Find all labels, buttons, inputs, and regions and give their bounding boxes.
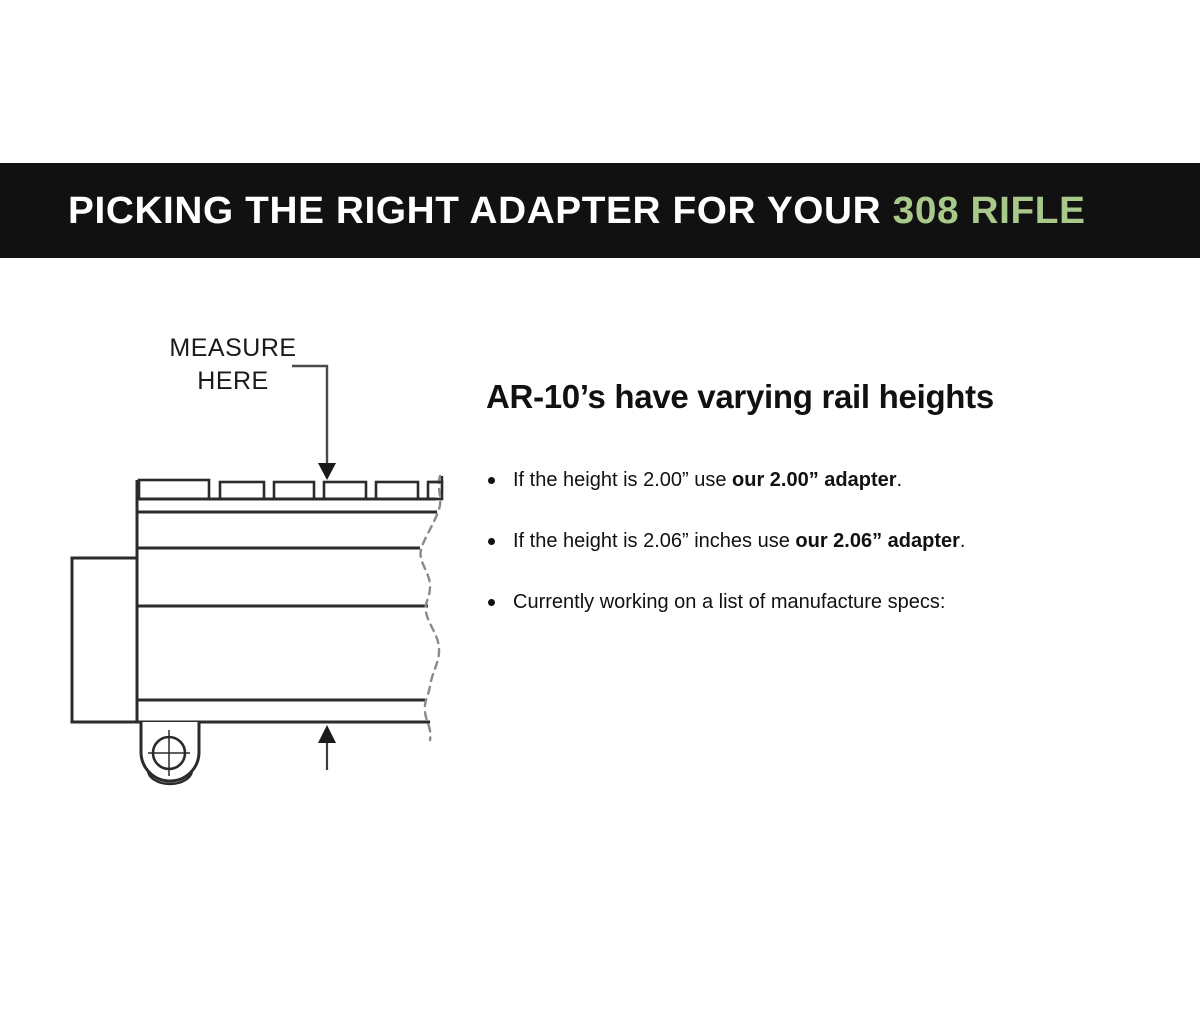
list-item: Currently working on a list of manufactu…: [486, 590, 1176, 614]
page-root: PICKING THE RIGHT ADAPTER FOR YOUR 308 R…: [0, 0, 1200, 1024]
page-title-accent: 308 RIFLE: [893, 190, 1086, 232]
list-item: If the height is 2.00” use our 2.00” ada…: [486, 468, 1176, 492]
bullet-text-plain-before: Currently working on a list of manufactu…: [513, 591, 945, 613]
bullet-text-plain-before: If the height is 2.06” inches use: [513, 530, 795, 552]
receiver-drawing-svg: [0, 300, 486, 820]
picatinny-rail-blocks: [139, 480, 442, 499]
measure-bottom-arrow: [318, 725, 336, 770]
page-title-main: PICKING THE RIGHT ADAPTER FOR YOUR: [68, 190, 893, 232]
header-banner: PICKING THE RIGHT ADAPTER FOR YOUR 308 R…: [0, 163, 1200, 258]
content-heading: AR-10’s have varying rail heights: [486, 378, 1176, 416]
bullet-text-bold: our 2.06” adapter: [795, 530, 960, 552]
bullet-dot-icon: [488, 477, 495, 484]
takedown-lug: [141, 722, 199, 784]
bullet-text-plain-after: .: [897, 469, 903, 491]
list-item: If the height is 2.06” inches use our 2.…: [486, 529, 1176, 553]
bullet-text-plain-after: .: [960, 530, 966, 552]
adapter-bullet-list: If the height is 2.00” use our 2.00” ada…: [486, 468, 1176, 614]
page-title: PICKING THE RIGHT ADAPTER FOR YOUR 308 R…: [68, 192, 1086, 230]
bullet-dot-icon: [488, 599, 495, 606]
receiver-body-outline: [136, 480, 437, 722]
bullet-text-plain-before: If the height is 2.00” use: [513, 469, 732, 491]
measure-top-arrowhead: [318, 463, 336, 480]
measure-bottom-arrowhead: [318, 725, 336, 743]
content-column: AR-10’s have varying rail heights If the…: [486, 378, 1176, 614]
bullet-text-bold: our 2.00” adapter: [732, 469, 897, 491]
rail-block-4: [324, 482, 366, 499]
rail-block-1: [139, 480, 209, 499]
receiver-technical-drawing: [0, 300, 486, 820]
rail-block-2: [220, 482, 264, 499]
callout-leader-line: [292, 366, 327, 468]
rail-block-3: [274, 482, 314, 499]
left-protrusion-outline: [72, 558, 137, 722]
left-protrusion: [72, 558, 137, 722]
rail-block-5: [376, 482, 418, 499]
bullet-dot-icon: [488, 538, 495, 545]
